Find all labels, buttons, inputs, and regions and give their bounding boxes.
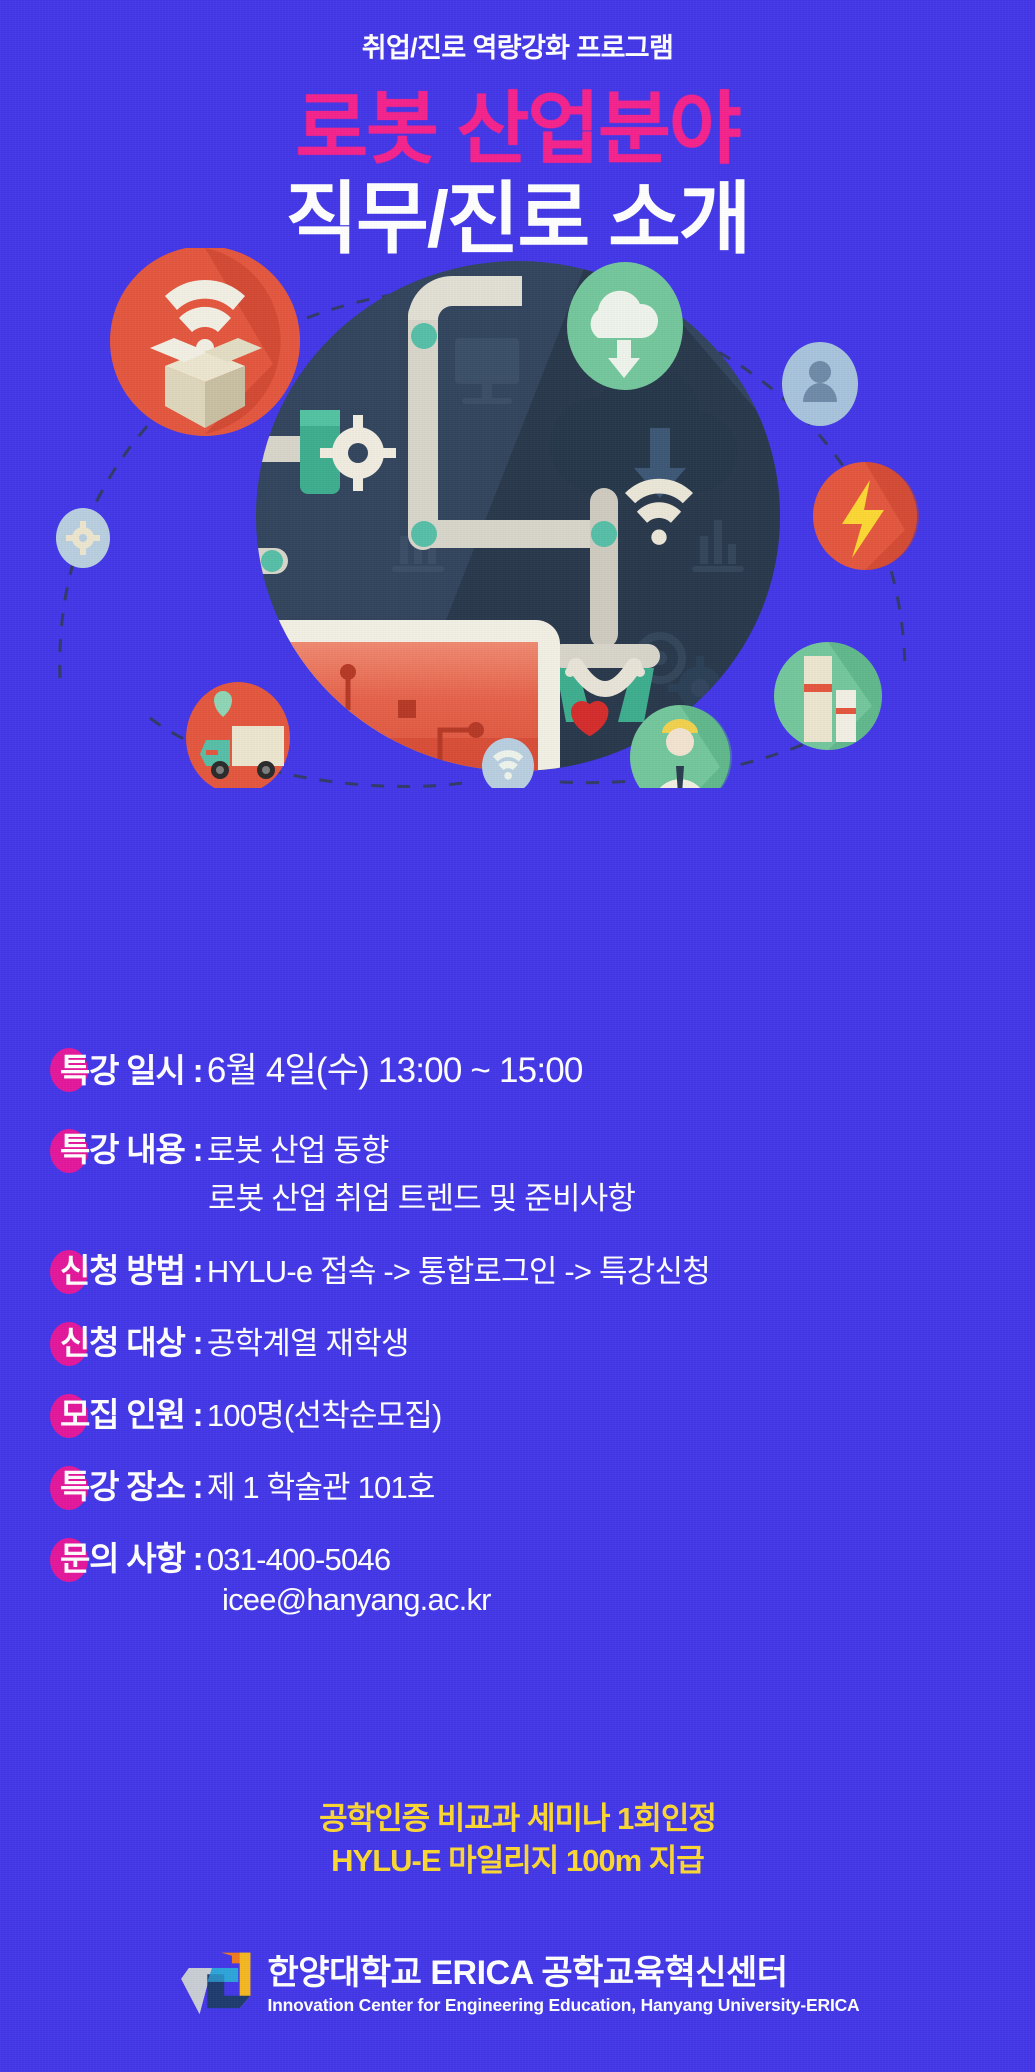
info-value: 로봇 산업 동향	[207, 1133, 389, 1168]
info-label: 모집 인원 :	[60, 1396, 202, 1433]
footer-branding: 한양대학교 ERICA 공학교육혁신센터 Innovation Center f…	[0, 1948, 1035, 2022]
info-row-venue: 특강 장소 : 제 1 학술관 101호	[0, 1460, 1035, 1508]
info-row-target: 신청 대상 : 공학계열 재학생	[0, 1316, 1035, 1364]
poster-header: 취업/진로 역량강화 프로그램 로봇 산업분야 직무/진로 소개	[0, 0, 1035, 260]
info-row-content: 특강 내용 : 로봇 산업 동향 로봇 산업 취업 트렌드 및 준비사항	[0, 1123, 1035, 1218]
poster-title-line1: 로봇 산업분야	[0, 87, 1035, 171]
info-value: 031-400-5046	[207, 1542, 390, 1577]
info-label: 문의 사항 :	[60, 1540, 202, 1577]
info-row-datetime: 특강 일시 : 6월 4일(수) 13:00 ~ 15:00	[0, 1042, 1035, 1093]
spiral-sensor	[165, 473, 235, 543]
info-label: 신청 대상 :	[60, 1324, 202, 1361]
erica-logo-mark	[176, 1948, 254, 2022]
gear-badge	[56, 508, 110, 568]
info-value: 공학계열 재학생	[207, 1326, 409, 1361]
truck-badge	[186, 682, 290, 788]
robot-industry-automation-illustration	[0, 248, 1035, 788]
poster-title-line2: 직무/진로 소개	[0, 177, 1035, 261]
program-kicker: 취업/진로 역량강화 프로그램	[0, 26, 1035, 65]
info-value: 제 1 학술관 101호	[207, 1470, 435, 1505]
footer-text-block: 한양대학교 ERICA 공학교육혁신센터 Innovation Center f…	[268, 1954, 860, 2015]
info-value-extra: 로봇 산업 취업 트렌드 및 준비사항	[208, 1173, 1035, 1218]
org-name-english: Innovation Center for Engineering Educat…	[268, 1995, 860, 2016]
user-badge	[782, 342, 858, 426]
contact-email: icee@hanyang.ac.kr	[222, 1582, 1035, 1618]
benefit-note: 공학인증 비교과 세미나 1회인정 HYLU-E 마일리지 100m 지급	[0, 1798, 1035, 1882]
wifi-package-badge	[110, 248, 300, 436]
info-label: 신청 방법 :	[60, 1252, 202, 1289]
info-value: 6월 4일(수) 13:00 ~ 15:00	[207, 1051, 583, 1090]
info-row-contact: 문의 사항 : 031-400-5046 icee@hanyang.ac.kr	[0, 1532, 1035, 1618]
info-row-capacity: 모집 인원 : 100명(선착순모집)	[0, 1388, 1035, 1436]
info-value: HYLU-e 접속 -> 통합로그인 -> 특강신청	[207, 1254, 710, 1289]
factory-badge	[774, 642, 882, 750]
info-value: 100명(선착순모집)	[207, 1398, 442, 1433]
cloud-download-badge	[567, 262, 683, 390]
info-label: 특강 내용 :	[60, 1131, 202, 1168]
note-line-2: HYLU-E 마일리지 100m 지급	[0, 1840, 1035, 1882]
org-name-korean: 한양대학교 ERICA 공학교육혁신센터	[268, 1954, 860, 1992]
info-label: 특강 일시 :	[60, 1052, 202, 1089]
info-label: 특강 장소 :	[60, 1468, 202, 1505]
power-badge	[813, 462, 919, 570]
info-list: 특강 일시 : 6월 4일(수) 13:00 ~ 15:00 특강 내용 : 로…	[0, 1042, 1035, 1632]
note-line-1: 공학인증 비교과 세미나 1회인정	[0, 1798, 1035, 1840]
info-row-method: 신청 방법 : HYLU-e 접속 -> 통합로그인 -> 특강신청	[0, 1244, 1035, 1292]
